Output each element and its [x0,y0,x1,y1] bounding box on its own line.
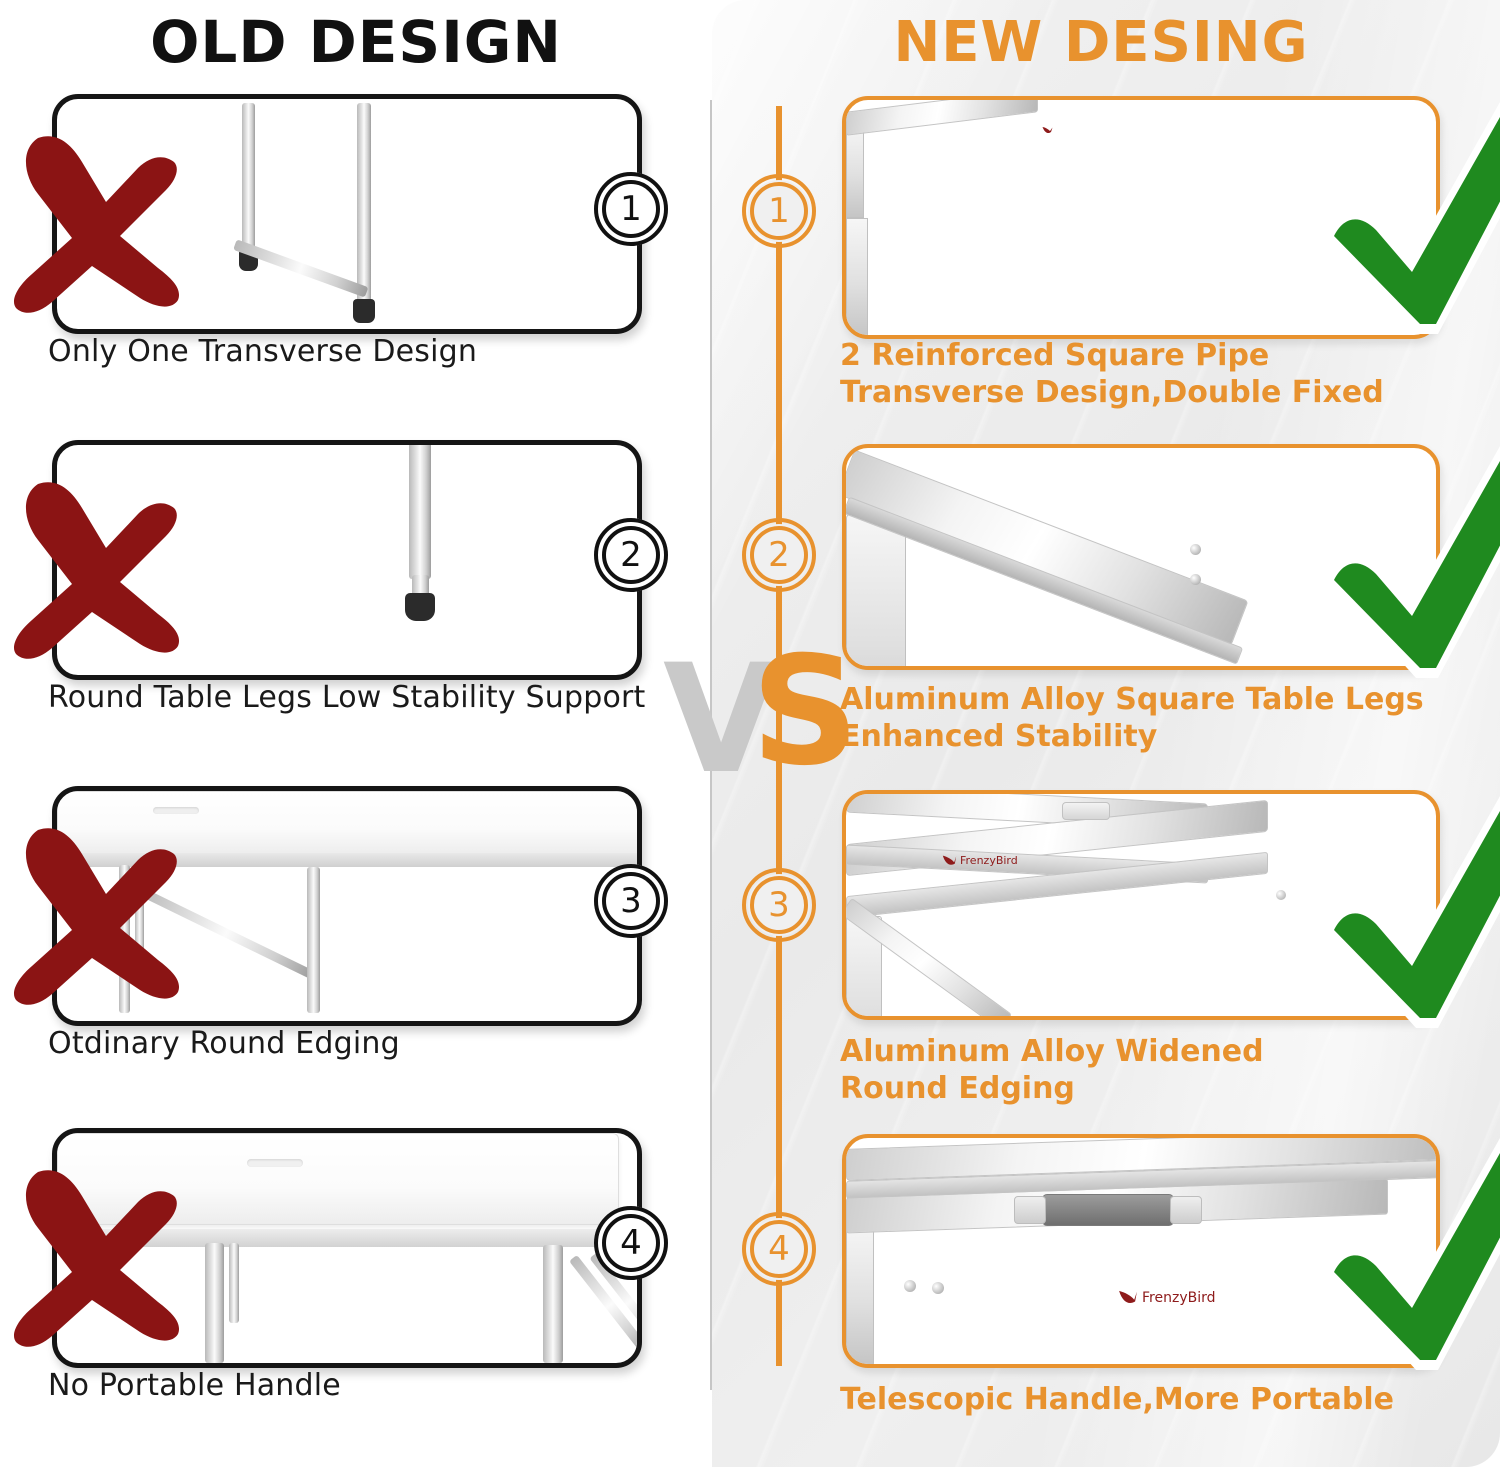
x-mark-icon [8,820,198,1015]
frenzybird-logo-icon [1118,1290,1138,1306]
check-mark-icon [1312,770,1500,1040]
brand-mark [1042,126,1053,135]
old-badge-1: 1 [594,172,668,246]
old-design-title: OLD DESIGN [0,8,712,76]
old-caption-3: Otdinary Round Edging [48,1026,648,1063]
new-design-title: NEW DESING [712,10,1490,75]
x-mark-icon [8,474,198,669]
check-mark-icon [1312,1112,1500,1382]
old-badge-3: 3 [594,864,668,938]
brand-mark: FrenzyBird [1118,1290,1216,1306]
brand-name: FrenzyBird [960,854,1018,867]
new-caption-3: Aluminum Alloy Widened Round Edging [840,1034,1460,1107]
frenzybird-logo-icon [942,855,957,867]
brand-name: FrenzyBird [1142,1290,1216,1306]
new-badge-3: 3 [742,868,816,942]
old-badge-4: 4 [594,1206,668,1280]
check-mark-icon [1312,420,1500,690]
old-caption-1: Only One Transverse Design [48,334,648,371]
brand-mark: FrenzyBird [942,854,1018,867]
new-badge-1: 1 [742,174,816,248]
x-mark-icon [8,1162,198,1357]
check-mark-icon [1312,76,1500,346]
frenzybird-logo-icon [1042,126,1053,135]
column-divider [710,100,712,1390]
orange-vertical-rail [776,106,782,1366]
old-design-column: OLD DESIGN 1 Only On [0,0,712,1467]
new-design-column: NEW DESING [712,0,1500,1467]
new-badge-2: 2 [742,518,816,592]
new-caption-1: 2 Reinforced Square Pipe Transverse Desi… [840,338,1460,411]
old-badge-2: 2 [594,518,668,592]
new-caption-2: Aluminum Alloy Square Table Legs Enhance… [840,682,1480,755]
x-mark-icon [8,128,198,323]
old-caption-4: No Portable Handle [48,1368,648,1405]
old-caption-2: Round Table Legs Low Stability Support [48,680,668,717]
new-badge-4: 4 [742,1212,816,1286]
new-caption-4: Telescopic Handle,More Portable [840,1382,1480,1419]
